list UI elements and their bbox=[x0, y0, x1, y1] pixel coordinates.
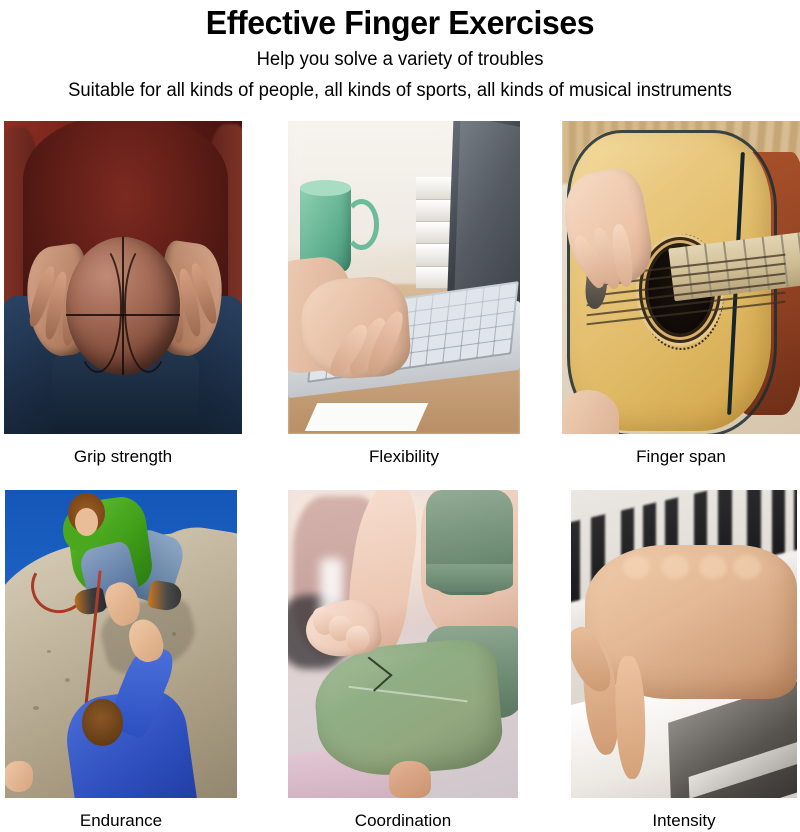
feature-card-grip-strength[interactable]: Grip strength bbox=[4, 121, 242, 468]
feature-card-intensity[interactable]: Intensity bbox=[571, 490, 797, 832]
feature-card-finger-span[interactable]: Finger span bbox=[562, 121, 800, 468]
yoga-pose-image bbox=[288, 490, 518, 798]
feature-row-2: Endurance bbox=[0, 490, 800, 832]
subtitle-secondary: Suitable for all kinds of people, all ki… bbox=[12, 78, 788, 104]
product-infographic-page: Effective Finger Exercises Help you solv… bbox=[0, 0, 800, 818]
feature-card-coordination[interactable]: Coordination bbox=[288, 490, 518, 832]
guitar-playing-image bbox=[562, 121, 800, 434]
basketball-grip-image bbox=[4, 121, 242, 434]
subtitle-primary: Help you solve a variety of troubles bbox=[12, 47, 788, 73]
rock-climbing-image bbox=[5, 490, 237, 798]
feature-caption: Intensity bbox=[571, 798, 797, 832]
piano-hand-image bbox=[571, 490, 797, 798]
feature-grid: Grip strength bbox=[0, 121, 800, 832]
feature-card-flexibility[interactable]: Flexibility bbox=[288, 121, 520, 468]
page-title: Effective Finger Exercises bbox=[12, 4, 788, 42]
header: Effective Finger Exercises Help you solv… bbox=[0, 0, 800, 104]
feature-card-endurance[interactable]: Endurance bbox=[5, 490, 237, 832]
feature-caption: Finger span bbox=[562, 434, 800, 468]
feature-row-1: Grip strength bbox=[0, 121, 800, 468]
feature-caption: Coordination bbox=[288, 798, 518, 832]
laptop-typing-image bbox=[288, 121, 520, 434]
feature-caption: Grip strength bbox=[4, 434, 242, 468]
feature-caption: Flexibility bbox=[288, 434, 520, 468]
feature-caption: Endurance bbox=[5, 798, 237, 832]
